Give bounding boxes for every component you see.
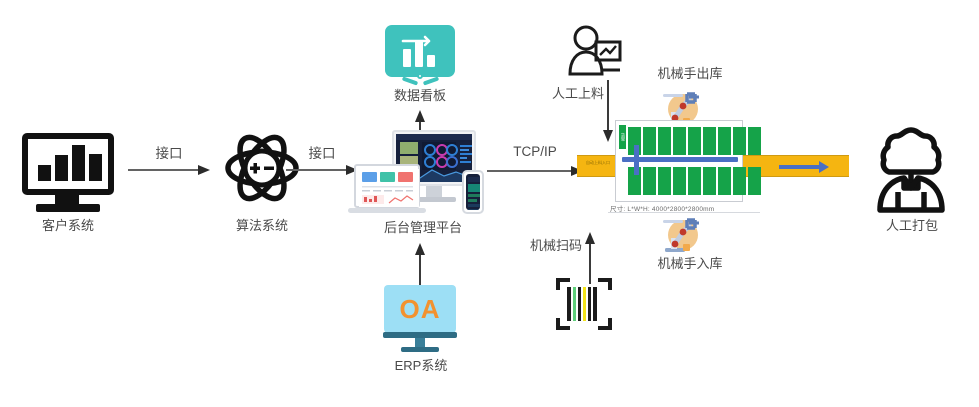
edge-platform-to-warehouse [487,166,583,176]
rack-cell [673,127,686,155]
node-manual-loading[interactable] [566,24,624,81]
person-with-chart-icon [566,24,624,76]
edge-platform-to-warehouse-label: TCP/IP [487,144,583,159]
node-algorithm-system-label: 算法系统 [202,218,322,234]
barcode-scan-icon [556,278,612,330]
rack-cell [688,167,701,195]
robot-arm-icon [655,214,703,256]
rack-cell [673,167,686,195]
edge-client-to-algorithm-label: 接口 [128,142,210,162]
oa-label: OA [400,296,441,322]
rack-cell [733,127,746,155]
device-cluster-icon [352,126,492,218]
edge-algorithm-to-platform [286,165,358,175]
conveyor-arrow-shaft [779,165,819,169]
rack-cell [718,127,731,155]
warehouse-divider [608,212,760,213]
rack-shuttle [634,145,639,175]
edge-erp-to-platform [415,243,425,285]
oa-monitor-icon: OA [384,285,456,333]
dashboard-stand-right [423,76,439,85]
conveyor-inlet-tag: 自动上料入口 [580,158,616,168]
dashboard-stand-joint [417,73,423,79]
rack-cell [703,127,716,155]
rack-cell [718,167,731,195]
node-robot-outbound-label: 机械手出库 [640,66,740,82]
bar-chart-monitor-icon [22,133,114,195]
node-admin-platform-label: 后台管理平台 [348,220,498,236]
worker-person-icon [868,122,954,214]
dashboard-monitor-icon [385,25,455,77]
rack-cell [748,167,761,195]
rack-cell [643,167,656,195]
node-erp-system-label: ERP系统 [375,358,467,374]
node-data-dashboard-label: 数据看板 [370,88,470,104]
node-manual-loading-label: 人工上料 [524,86,604,102]
dashboard-stand-left [402,76,418,85]
node-manual-packing[interactable] [868,122,954,219]
rack-row-top [628,127,761,155]
edge-scan-to-warehouse [585,232,595,284]
node-machine-scan-label: 机械扫码 [522,238,582,254]
rack-cell [658,127,671,155]
node-data-dashboard[interactable] [385,25,455,85]
rack-rail [622,157,738,162]
monitor-base [36,204,100,212]
rack-vertical-tag: 货架 [619,125,626,149]
conveyor-arrow-head [819,161,829,173]
node-robot-inbound[interactable] [655,214,703,261]
rack-row-bottom [628,167,761,195]
node-client-system-label: 客户系统 [8,218,128,234]
rack-cell [643,127,656,155]
node-manual-packing-label: 人工打包 [862,218,962,234]
rack-cell [703,167,716,195]
rack-cell [658,167,671,195]
warehouse-rack[interactable]: 货架 [615,120,743,202]
edge-loading-to-warehouse [603,80,613,142]
rack-cell [688,127,701,155]
oa-monitor-base [401,347,439,352]
node-robot-inbound-label: 机械手入库 [640,256,740,272]
rack-cell [733,167,746,195]
monitor-stand [55,195,79,204]
node-client-system[interactable] [22,133,114,213]
edge-client-to-algorithm [128,165,210,175]
diagram-canvas: 客户系统 接口 算法系统 接口 [0,0,979,407]
edge-algorithm-to-platform-label: 接口 [286,142,358,162]
rack-cell [748,127,761,155]
node-erp-system[interactable]: OA [384,285,456,355]
